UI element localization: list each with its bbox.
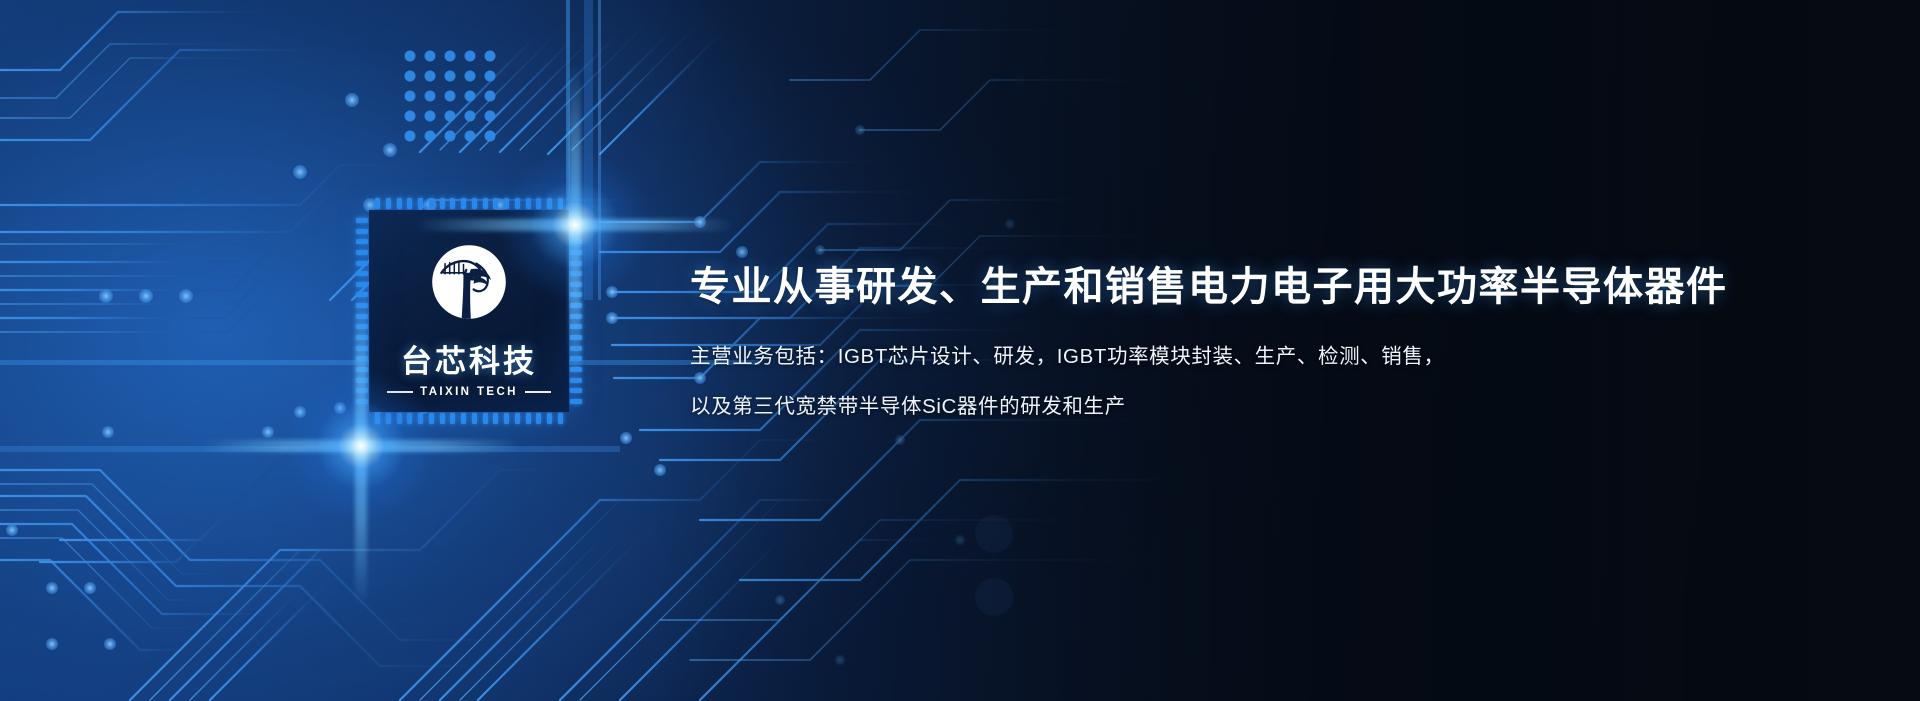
hero-text-block: 专业从事研发、生产和销售电力电子用大功率半导体器件 主营业务包括：IGBT芯片设…: [690, 265, 1790, 419]
semiconductor-chip-module: 台芯科技 TAIXIN TECH: [355, 196, 583, 426]
decor-circle-lower: [975, 578, 1013, 616]
logo-company-name-en-wrap: TAIXIN TECH: [387, 386, 551, 398]
company-logo[interactable]: 台芯科技 TAIXIN TECH: [369, 236, 569, 398]
chip-pins-left: [356, 218, 368, 404]
hero-subline-2: 以及第三代宽禁带半导体SiC器件的研发和生产: [690, 389, 1790, 419]
chip-pins-top: [375, 198, 563, 209]
logo-company-name-en: TAIXIN TECH: [420, 386, 518, 398]
taixin-circular-emblem: [423, 236, 515, 328]
dot-grid-pattern: [405, 51, 496, 142]
hero-subline-1: 主营业务包括：IGBT芯片设计、研发，IGBT功率模块封装、生产、检测、销售，: [690, 339, 1790, 369]
hero-headline: 专业从事研发、生产和销售电力电子用大功率半导体器件: [690, 265, 1790, 310]
chip-die-surface: 台芯科技 TAIXIN TECH: [369, 210, 569, 412]
hero-banner: 台芯科技 TAIXIN TECH 专业从事研发、生产和销售电力电子用大功率半导体…: [0, 0, 1920, 701]
logo-company-name-cn: 台芯科技: [401, 336, 537, 381]
chip-pins-bottom: [375, 413, 563, 424]
chip-pins-right: [570, 218, 582, 404]
decor-circle-upper: [975, 515, 1013, 553]
logo-rule-left: [387, 391, 413, 393]
logo-rule-right: [525, 391, 551, 393]
